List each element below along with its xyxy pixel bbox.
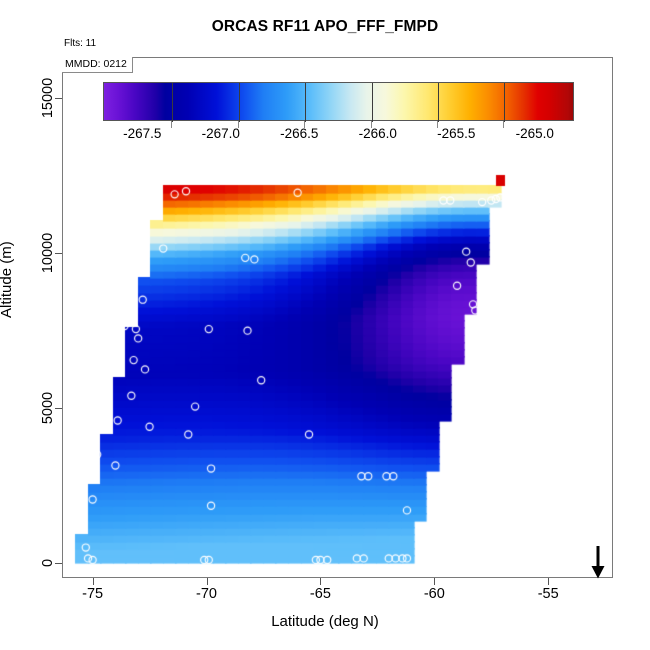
colorbar-tick-line	[239, 83, 240, 122]
colorbar-tick-line	[372, 83, 373, 122]
colorbar-gradient	[103, 82, 574, 121]
x-axis-tick	[548, 578, 549, 585]
colorbar-tick-label: -267.5	[123, 126, 161, 141]
x-axis-tick	[434, 578, 435, 585]
colorbar-tick-label: -266.5	[280, 126, 318, 141]
flights-count-label: Flts: 11	[64, 38, 96, 49]
x-axis-tick	[207, 578, 208, 585]
colorbar-tick-label: -266.0	[359, 126, 397, 141]
colorbar-tick-label: -265.5	[437, 126, 475, 141]
colorbar-tick-line	[172, 83, 173, 122]
y-axis-label: Altitude (m)	[0, 241, 15, 318]
down-arrow-marker	[591, 546, 605, 579]
colorbar-tick-line	[305, 83, 306, 122]
colorbar-tick-label: -265.0	[516, 126, 554, 141]
colorbar: -267.5-267.0-266.5-266.0-265.5-265.0	[103, 82, 574, 121]
y-axis-tick-label: 5000	[40, 392, 56, 424]
y-axis-tick-label: 0	[40, 559, 56, 567]
x-axis-label: Latitude (deg N)	[0, 613, 650, 630]
mmdd-date-label: MMDD: 0212	[62, 57, 133, 73]
y-axis-tick-label: 15000	[40, 78, 56, 118]
colorbar-tick-label: -267.0	[202, 126, 240, 141]
colorbar-tick-line	[438, 83, 439, 122]
x-axis-tick-label: -75	[82, 586, 103, 602]
x-axis-tick	[320, 578, 321, 585]
x-axis-tick	[93, 578, 94, 585]
y-axis-tick-label: 10000	[40, 233, 56, 273]
figure-root: ORCAS RF11 APO_FFF_FMPD Flts: 11 MMDD: 0…	[0, 0, 650, 650]
x-axis-tick-label: -65	[310, 586, 331, 602]
page-title: ORCAS RF11 APO_FFF_FMPD	[0, 18, 650, 36]
colorbar-tick-line	[504, 83, 505, 122]
x-axis-tick-label: -60	[424, 586, 445, 602]
colorbar-tick-mark	[503, 121, 504, 128]
x-axis-tick-label: -70	[196, 586, 217, 602]
y-axis-tick	[55, 563, 62, 564]
colorbar-tick-mark	[171, 121, 172, 128]
x-axis-tick-label: -55	[538, 586, 559, 602]
